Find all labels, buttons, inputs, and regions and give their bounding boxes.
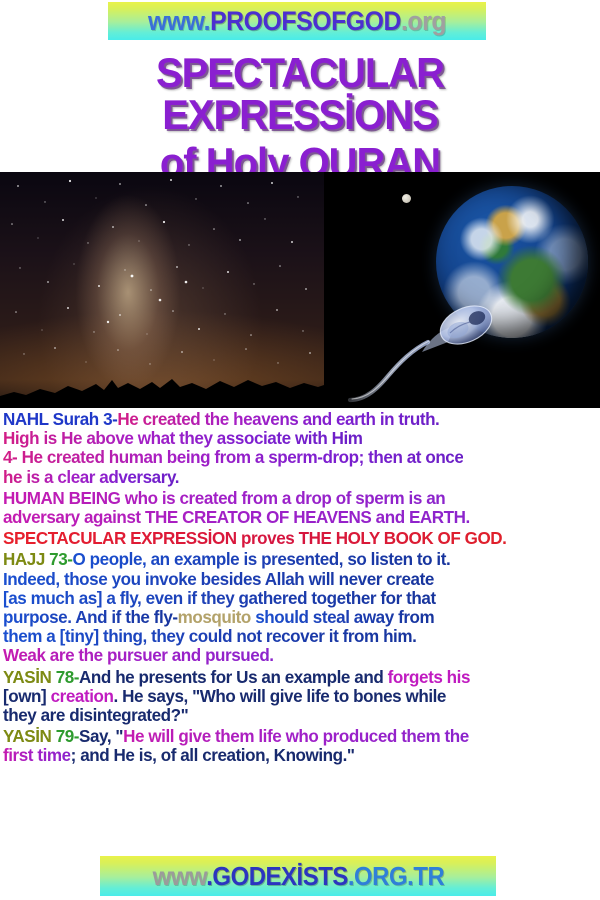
verse-run: ; and He is, of all creation, Knowing." bbox=[71, 745, 355, 765]
verse-line: Weak are the pursuer and pursued. bbox=[3, 646, 582, 665]
bottom-url-tld: .ORG.TR bbox=[347, 861, 443, 891]
verse-run: [as much as] a fly, even if they gathere… bbox=[3, 588, 436, 608]
verse-line: YASİN 78-And he presents for Us an examp… bbox=[3, 668, 582, 687]
verse-line: High is He above what they associate wit… bbox=[3, 429, 582, 448]
verse-run: O people, an example is presented, so li… bbox=[73, 549, 451, 569]
verse-block-hajj: HAJJ 73-O people, an example is presente… bbox=[3, 550, 597, 665]
tree-silhouette bbox=[0, 374, 324, 408]
verse-run: Indeed, those you invoke besides Allah w… bbox=[3, 569, 434, 589]
verse-text-block: NAHL Surah 3-He created the heavens and … bbox=[0, 410, 600, 766]
verse-run: [own] bbox=[3, 686, 51, 706]
verse-line: 4- He created human being from a sperm-d… bbox=[3, 448, 582, 467]
verse-block-human-being-commentary: HUMAN BEING who is created from a drop o… bbox=[3, 489, 597, 527]
verse-run: Weak are the pursuer and pursued. bbox=[3, 645, 274, 665]
verse-run: NAHL Surah 3- bbox=[3, 409, 117, 429]
verse-run: HAJJ bbox=[3, 549, 49, 569]
verse-run: 78- bbox=[56, 667, 79, 687]
verse-run: HUMAN BEING who is created from a drop o… bbox=[3, 488, 445, 508]
verse-block-spectacular-expression-claim: SPECTACULAR EXPRESSİON proves THE HOLY B… bbox=[3, 529, 597, 548]
bottom-url-text: www.GODEXİSTS.ORG.TR bbox=[152, 861, 444, 892]
verse-run: first time bbox=[3, 745, 71, 765]
verse-run: . He says, "Who will give life to bones … bbox=[113, 686, 446, 706]
verse-run: should steal away from bbox=[251, 607, 434, 627]
verse-line: them a [tiny] thing, they could not reco… bbox=[3, 627, 582, 646]
verse-run: them a [tiny] thing, they could not reco… bbox=[3, 626, 416, 646]
top-url-tld: .org bbox=[401, 6, 446, 36]
verse-run: SPECTACULAR EXPRESSİON proves THE HOLY B… bbox=[3, 528, 506, 548]
poster-title: SPECTACULAR EXPRESSİONS of Holy QURAN bbox=[0, 44, 600, 166]
verse-line: NAHL Surah 3-He created the heavens and … bbox=[3, 410, 582, 429]
verse-block-nahl: NAHL Surah 3-He created the heavens and … bbox=[3, 410, 597, 487]
verse-line: HUMAN BEING who is created from a drop o… bbox=[3, 489, 582, 508]
poster-page: www.PROOFSOFGOD.org SPECTACULAR EXPRESSİ… bbox=[0, 0, 600, 900]
verse-line: adversary against THE CREATOR OF HEAVENS… bbox=[3, 508, 582, 527]
milky-way-photo bbox=[0, 172, 324, 408]
verse-line: he is a clear adversary. bbox=[3, 468, 582, 487]
verse-run: YASİN bbox=[3, 667, 56, 687]
verse-run: purpose. And if the fly- bbox=[3, 607, 178, 627]
verse-run: they are disintegrated?" bbox=[3, 705, 188, 725]
verse-run: YASİN bbox=[3, 726, 56, 746]
title-line-1: SPECTACULAR EXPRESSİONS bbox=[15, 44, 585, 136]
top-url-www: www. bbox=[148, 6, 210, 36]
verse-run: He created the heavens and earth in trut… bbox=[117, 409, 439, 429]
bottom-url-domain: .GODEXİSTS bbox=[206, 861, 348, 891]
moon-icon bbox=[402, 194, 411, 203]
image-strip bbox=[0, 172, 600, 408]
verse-block-yasin-78: YASİN 78-And he presents for Us an examp… bbox=[3, 668, 597, 726]
top-url-text: www.PROOFSOFGOD.org bbox=[148, 6, 446, 37]
verse-line: they are disintegrated?" bbox=[3, 706, 582, 725]
verse-line: SPECTACULAR EXPRESSİON proves THE HOLY B… bbox=[3, 529, 582, 548]
verse-run: And he presents for Us an example and bbox=[79, 667, 388, 687]
verse-line: YASİN 79-Say, "He will give them life wh… bbox=[3, 727, 582, 746]
verse-run: he is a clear adversary. bbox=[3, 467, 179, 487]
verse-line: purpose. And if the fly-mosquito should … bbox=[3, 608, 582, 627]
verse-block-yasin-79: YASİN 79-Say, "He will give them life wh… bbox=[3, 727, 597, 765]
top-url-banner: www.PROOFSOFGOD.org bbox=[108, 2, 486, 40]
verse-run: 73- bbox=[49, 549, 72, 569]
top-url-domain: PROOFSOFGOD bbox=[210, 6, 401, 36]
verse-line: Indeed, those you invoke besides Allah w… bbox=[3, 570, 582, 589]
verse-run: mosquito bbox=[178, 607, 251, 627]
verse-run: forgets his bbox=[388, 667, 470, 687]
verse-line: first time; and He is, of all creation, … bbox=[3, 746, 582, 765]
verse-run: 4- He created human being from a sperm-d… bbox=[3, 447, 463, 467]
sperm-cell-illustration bbox=[344, 300, 524, 408]
verse-line: [own] creation. He says, "Who will give … bbox=[3, 687, 582, 706]
verse-line: [as much as] a fly, even if they gathere… bbox=[3, 589, 582, 608]
bottom-url-banner: www.GODEXİSTS.ORG.TR bbox=[100, 856, 496, 896]
verse-run: adversary against THE CREATOR OF HEAVENS… bbox=[3, 507, 470, 527]
verse-run: High is He above what they associate wit… bbox=[3, 428, 363, 448]
verse-run: 79- bbox=[56, 726, 79, 746]
verse-run: creation bbox=[51, 686, 114, 706]
verse-line: HAJJ 73-O people, an example is presente… bbox=[3, 550, 582, 569]
verse-run: Say, " bbox=[79, 726, 123, 746]
star-field bbox=[0, 172, 324, 408]
bottom-url-www: www bbox=[152, 861, 206, 891]
verse-run: He will give them life who produced them… bbox=[123, 726, 469, 746]
earth-photo-panel bbox=[324, 172, 600, 408]
